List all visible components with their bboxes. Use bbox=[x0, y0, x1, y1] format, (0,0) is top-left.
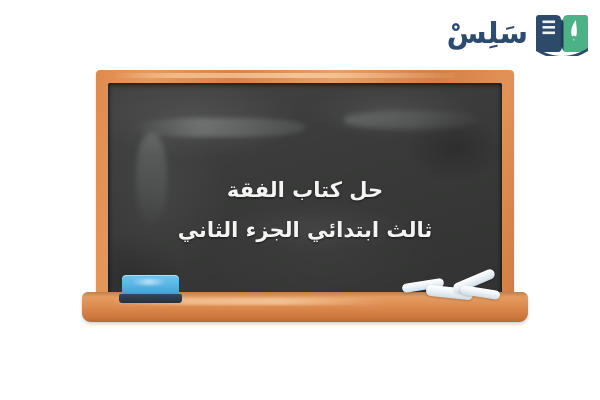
open-book-quill-icon bbox=[536, 10, 588, 56]
blue-board-eraser bbox=[119, 275, 182, 305]
blackboard-headline: حل كتاب الفقة ثالث ابتدائي الجزء الثاني bbox=[178, 133, 433, 251]
brand-wordmark: سَلِسْ bbox=[447, 19, 528, 48]
poster-canvas: سَلِسْ حل كت bbox=[0, 0, 600, 400]
eraser-highlight bbox=[132, 279, 166, 285]
eraser-base bbox=[119, 294, 182, 303]
eraser-body bbox=[122, 275, 179, 296]
frame-highlight bbox=[113, 73, 456, 78]
chalk-smudge bbox=[136, 133, 168, 224]
headline-line-2: ثالث ابتدائي الجزء الثاني bbox=[178, 211, 433, 251]
brand-logo[interactable]: سَلِسْ bbox=[447, 8, 588, 58]
chalk-smudge bbox=[344, 111, 478, 128]
white-chalk-sticks bbox=[400, 268, 512, 306]
blackboard-assembly: حل كتاب الفقة ثالث ابتدائي الجزء الثاني bbox=[82, 70, 528, 332]
headline-line-1: حل كتاب الفقة bbox=[178, 171, 433, 211]
